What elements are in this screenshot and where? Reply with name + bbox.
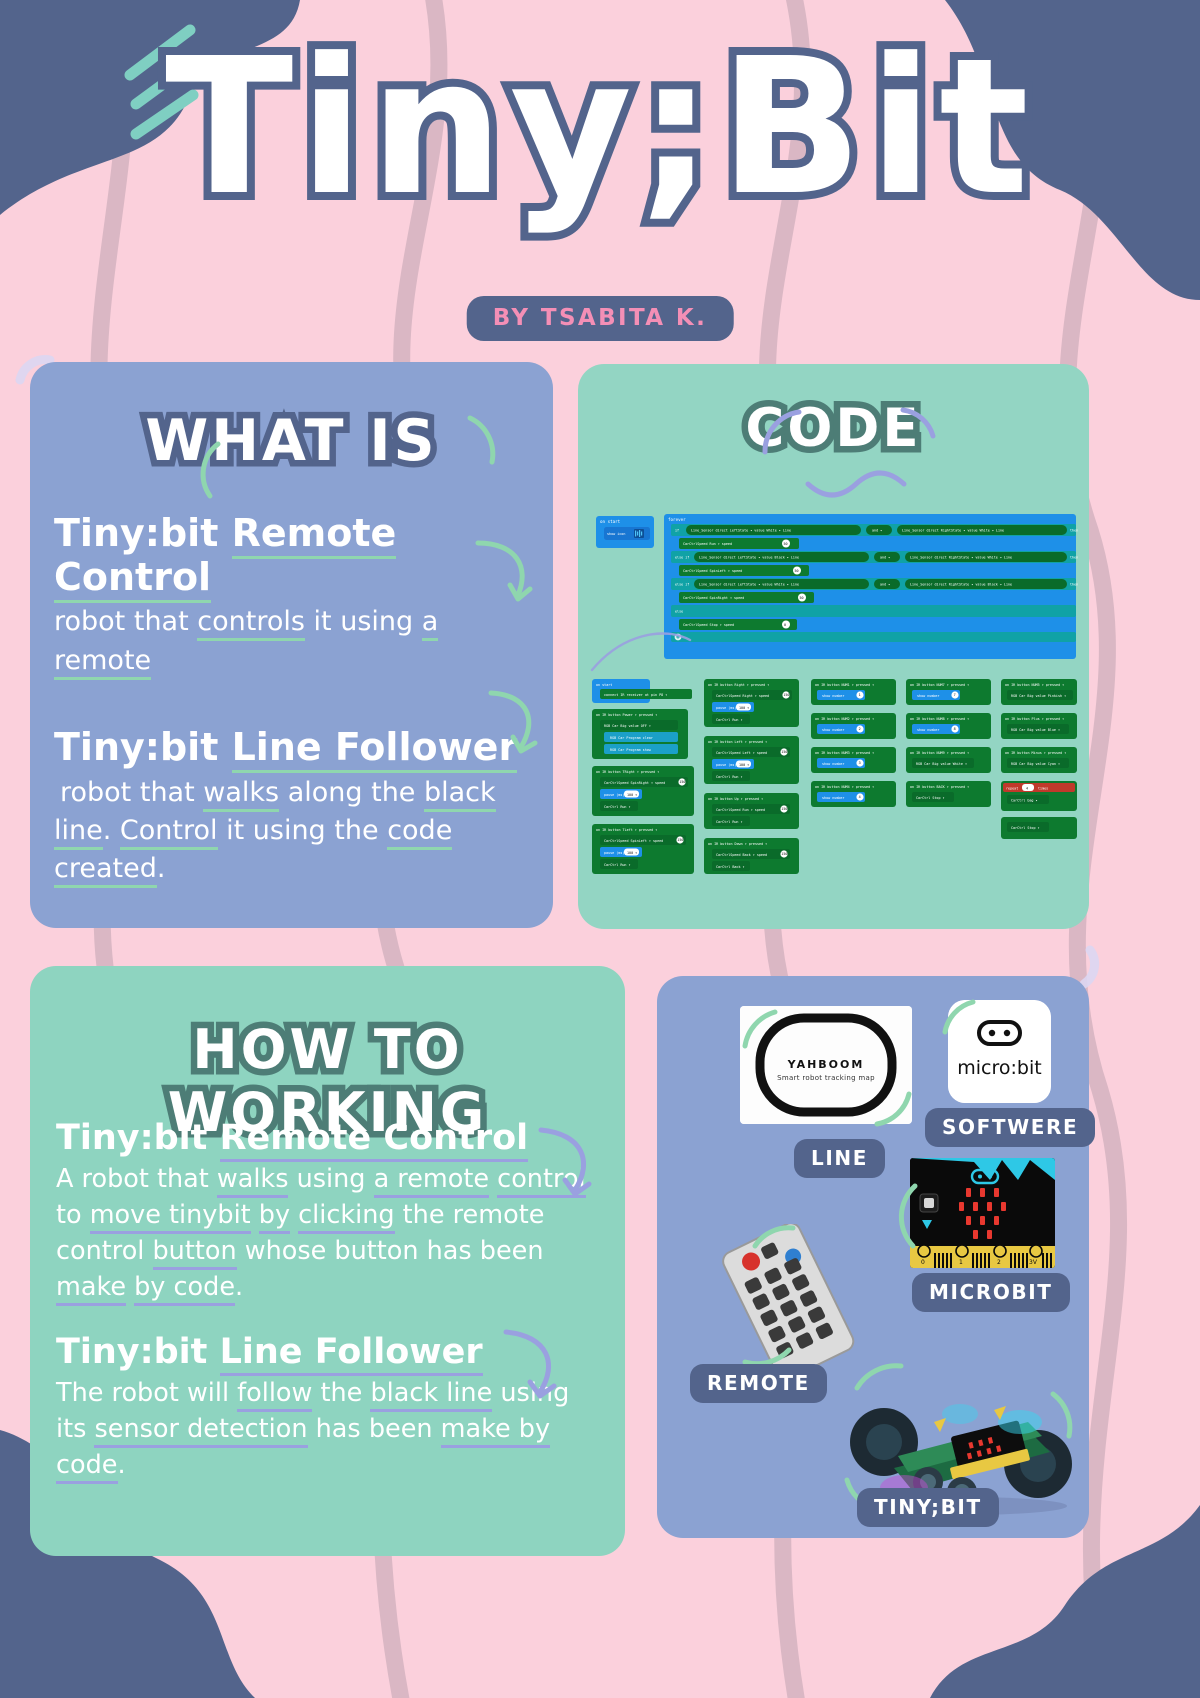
- svg-text:3V: 3V: [1029, 1259, 1038, 1266]
- svg-text:then: then: [1070, 582, 1078, 586]
- svg-text:CarCtrl Run ▾: CarCtrl Run ▾: [604, 863, 631, 867]
- svg-text:RGB Car Program clear: RGB Car Program clear: [610, 736, 653, 740]
- svg-text:CarCtrl Back ▾: CarCtrl Back ▾: [716, 865, 745, 869]
- svg-text:on IR button Up ▾ pressed ▾: on IR button Up ▾ pressed ▾: [708, 797, 763, 801]
- svg-text:show icon: show icon: [607, 532, 625, 536]
- svg-text:CarCtrlSpeed Run ▾ speed: CarCtrlSpeed Run ▾ speed: [683, 542, 732, 546]
- svg-text:150: 150: [677, 838, 683, 842]
- svg-text:Line_Sensor direct LeftState: Line_Sensor direct LeftState ▾ value Whi…: [699, 582, 799, 586]
- svg-text:CarCtrlSpeed SpinLeft ▾ spe: CarCtrlSpeed SpinLeft ▾ speed: [683, 569, 742, 573]
- what-is-item-1-title: Tiny:bit Line Follower: [54, 726, 534, 770]
- svg-text:1: 1: [959, 1259, 963, 1266]
- card-what-is: WHAT IS Tiny:bit Remote Control robot th…: [30, 362, 553, 928]
- svg-text:150: 150: [783, 693, 789, 697]
- how-item-1-title: Tiny:bit Line Follower: [56, 1332, 601, 1372]
- svg-text:times: times: [1038, 787, 1048, 791]
- svg-text:Line_Sensor direct RightState: Line_Sensor direct RightState ▾ value Wh…: [902, 528, 1004, 532]
- microbit-logo-text: micro:bit: [948, 1057, 1051, 1079]
- svg-text:RGB Car Big value White ▾: RGB Car Big value White ▾: [916, 762, 967, 766]
- svg-text:and ▾: and ▾: [872, 528, 882, 532]
- svg-text:on IR button BACK ▾ pressed: on IR button BACK ▾ pressed ▾: [910, 785, 969, 789]
- svg-text:on IR button NUM4 ▾ pressed: on IR button NUM4 ▾ pressed ▾: [815, 785, 874, 789]
- svg-text:150: 150: [781, 807, 787, 811]
- svg-text:CarCtrl Stop ▾: CarCtrl Stop ▾: [916, 796, 945, 800]
- what-is-item-0-title: Tiny:bit Remote Control: [54, 512, 534, 599]
- svg-text:CarCtrlSpeed SpinLeft ▾ spee: CarCtrlSpeed SpinLeft ▾ speed: [604, 839, 663, 843]
- svg-text:on start: on start: [600, 519, 621, 524]
- svg-text:show number: show number: [822, 728, 844, 732]
- how-item-1-body: The robot will follow the black line usi…: [56, 1376, 601, 1484]
- heading-what-is: WHAT IS: [30, 408, 553, 474]
- svg-text:Line_Sensor direct RightState: Line_Sensor direct RightState ▾ value Wh…: [910, 555, 1012, 559]
- svg-text:RGB Car Big value Cyan ▾: RGB Car Big value Cyan ▾: [1011, 762, 1060, 766]
- photo-remote-control: [709, 1224, 864, 1374]
- svg-text:Line_Sensor direct LeftState: Line_Sensor direct LeftState ▾ value Whi…: [691, 528, 791, 532]
- svg-text:on IR button Minus ▾ presse: on IR button Minus ▾ pressed ▾: [1005, 751, 1066, 755]
- poster-title-wrap: Tiny;Bit: [0, 34, 1200, 222]
- svg-text:RGB Car Big value OFF ▾: RGB Car Big value OFF ▾: [604, 724, 651, 728]
- svg-text:100 ▾: 100 ▾: [739, 706, 749, 710]
- svg-text:100 ▾: 100 ▾: [627, 851, 637, 855]
- svg-text:on IR button NUM7 ▾ pressed: on IR button NUM7 ▾ pressed ▾: [910, 683, 969, 687]
- byline-badge: BY TSABITA K.: [467, 296, 734, 341]
- svg-text:0: 0: [784, 623, 786, 627]
- svg-text:on IR button Right ▾ presse: on IR button Right ▾ pressed ▾: [708, 683, 769, 687]
- svg-text:pause (ms): pause (ms): [604, 793, 624, 797]
- card-code: CODE .blk{font-family:"DejaVu Sans Mono"…: [578, 364, 1089, 929]
- tag-microbit: MICROBIT: [912, 1273, 1070, 1312]
- svg-text:show number: show number: [917, 728, 939, 732]
- photo-microbit-logo: micro:bit: [948, 1000, 1051, 1103]
- svg-text:pause (ms): pause (ms): [604, 851, 624, 855]
- svg-text:4: 4: [859, 795, 861, 799]
- svg-text:if: if: [675, 528, 679, 532]
- svg-text:else: else: [675, 609, 683, 613]
- svg-text:50: 50: [784, 542, 788, 546]
- svg-text:else if: else if: [675, 555, 689, 559]
- svg-text:1: 1: [859, 693, 861, 697]
- card-tools: YAHBOOM Smart robot tracking map LINE mi…: [657, 976, 1089, 1538]
- svg-text:pause (ms): pause (ms): [716, 706, 736, 710]
- svg-text:on IR button NUM8 ▾ pressed: on IR button NUM8 ▾ pressed ▾: [910, 717, 969, 721]
- card-how-to-working: HOW TO WORKING Tiny:bit Remote Control A…: [30, 966, 625, 1556]
- svg-text:2: 2: [859, 727, 861, 731]
- svg-text:on IR button NUM3 ▾ pressed: on IR button NUM3 ▾ pressed ▾: [815, 751, 874, 755]
- svg-text:CarCtrlSpeed Left ▾ speed: CarCtrlSpeed Left ▾ speed: [716, 751, 767, 755]
- svg-text:on IR button NUM1 ▾ pressed: on IR button NUM1 ▾ pressed ▾: [815, 683, 874, 687]
- svg-text:on IR button TRight ▾ press: on IR button TRight ▾ pressed ▾: [596, 770, 659, 774]
- what-is-body: Tiny:bit Remote Control robot that contr…: [54, 512, 534, 923]
- tag-line: LINE: [794, 1139, 885, 1178]
- svg-text:Line_Sensor direct RightState: Line_Sensor direct RightState ▾ value Bl…: [910, 582, 1012, 586]
- svg-text:on IR button NUM9 ▾ pressed: on IR button NUM9 ▾ pressed ▾: [910, 751, 969, 755]
- svg-text:then: then: [1070, 555, 1078, 559]
- svg-text:on IR button Plus ▾ pressed: on IR button Plus ▾ pressed ▾: [1005, 717, 1064, 721]
- svg-text:and ▾: and ▾: [880, 582, 890, 586]
- svg-text:CarCtrlSpeed SpinRight ▾ spe: CarCtrlSpeed SpinRight ▾ speed: [604, 781, 665, 785]
- photo-tracking-map: YAHBOOM Smart robot tracking map: [740, 1006, 912, 1124]
- yahboom-logo-sub: Smart robot tracking map: [740, 1074, 912, 1082]
- svg-text:on IR button NUM5 ▾ pressed: on IR button NUM5 ▾ pressed ▾: [1005, 683, 1064, 687]
- yahboom-logo-text: YAHBOOM: [740, 1058, 912, 1071]
- svg-text:2: 2: [997, 1259, 1001, 1266]
- svg-text:else if: else if: [675, 582, 689, 586]
- svg-text:CarCtrl Run ▾: CarCtrl Run ▾: [716, 775, 743, 779]
- svg-text:CarCtrlSpeed Run ▾ speed: CarCtrlSpeed Run ▾ speed: [716, 808, 765, 812]
- svg-text:show number: show number: [822, 762, 844, 766]
- svg-text:forever: forever: [668, 517, 686, 522]
- svg-text:CarCtrlSpeed SpinRight ▾ sp: CarCtrlSpeed SpinRight ▾ speed: [683, 596, 744, 600]
- heading-code: CODE: [578, 398, 1089, 459]
- svg-text:CarCtrl bag ▾: CarCtrl bag ▾: [1011, 798, 1038, 802]
- svg-text:100 ▾: 100 ▾: [627, 793, 637, 797]
- svg-text:4: 4: [1026, 787, 1028, 791]
- svg-text:Line_Sensor direct LeftState: Line_Sensor direct LeftState ▾ value Bla…: [699, 555, 799, 559]
- svg-text:CarCtrlSpeed Right ▾ speed: CarCtrlSpeed Right ▾ speed: [716, 694, 769, 698]
- svg-text:show number: show number: [917, 694, 939, 698]
- svg-text:RGB Car Program show: RGB Car Program show: [610, 748, 652, 752]
- svg-text:150: 150: [781, 750, 787, 754]
- svg-text:50: 50: [795, 569, 799, 573]
- svg-text:CarCtrlSpeed Stop ▾ speed: CarCtrlSpeed Stop ▾ speed: [683, 623, 734, 627]
- svg-text:RGB Car Big value Blue ▾: RGB Car Big value Blue ▾: [1011, 728, 1060, 732]
- svg-text:repeat: repeat: [1006, 787, 1018, 791]
- page-title: Tiny;Bit: [165, 34, 1035, 222]
- how-item-0-body: A robot that walks using a remote contro…: [56, 1162, 601, 1306]
- what-is-item-1-body: robot that walks along the black line. C…: [54, 774, 534, 889]
- svg-text:on IR button NUM2 ▾ pressed: on IR button NUM2 ▾ pressed ▾: [815, 717, 874, 721]
- svg-text:CarCtrlSpeed Back ▾ speed: CarCtrlSpeed Back ▾ speed: [716, 853, 767, 857]
- svg-text:100 ▾: 100 ▾: [739, 763, 749, 767]
- how-item-0-title: Tiny:bit Remote Control: [56, 1118, 601, 1158]
- svg-text:on start: on start: [596, 683, 612, 687]
- tag-remote: REMOTE: [690, 1364, 827, 1403]
- tag-softwere: SOFTWERE: [925, 1108, 1095, 1147]
- photo-microbit-board: 0123V: [910, 1158, 1055, 1268]
- svg-text:show number: show number: [822, 796, 844, 800]
- svg-text:and ▾: and ▾: [880, 555, 890, 559]
- svg-text:150: 150: [679, 780, 685, 784]
- svg-text:on IR button TLeft ▾ presse: on IR button TLeft ▾ pressed ▾: [596, 828, 657, 832]
- poster-canvas: Tiny;Bit BY TSABITA K. WHAT IS Tiny:bit …: [0, 0, 1200, 1698]
- svg-text:7: 7: [954, 693, 956, 697]
- how-to-working-body: Tiny:bit Remote Control A robot that wal…: [56, 1118, 601, 1502]
- svg-text:show number: show number: [822, 694, 844, 698]
- svg-text:CarCtrl Run ▾: CarCtrl Run ▾: [716, 820, 743, 824]
- svg-text:on IR button Down ▾ pressed: on IR button Down ▾ pressed ▾: [708, 842, 767, 846]
- svg-text:RGB Car Big value Pinkish ▾: RGB Car Big value Pinkish ▾: [1011, 694, 1066, 698]
- tag-tinybit: TINY;BIT: [857, 1488, 999, 1527]
- svg-text:CarCtrl Run ▾: CarCtrl Run ▾: [604, 805, 631, 809]
- svg-text:0: 0: [921, 1259, 925, 1266]
- code-blocks-screenshot: .blk{font-family:"DejaVu Sans Mono", mon…: [586, 504, 1081, 914]
- what-is-item-0-body: robot that controls it using a remote: [54, 603, 534, 680]
- svg-text:8: 8: [954, 727, 956, 731]
- svg-text:CarCtrl Stop ▾: CarCtrl Stop ▾: [1011, 826, 1040, 830]
- svg-text:50: 50: [800, 596, 804, 600]
- svg-text:then: then: [1070, 528, 1078, 532]
- svg-text:on IR button Left ▾ pressed: on IR button Left ▾ pressed ▾: [708, 740, 767, 744]
- svg-text:150: 150: [781, 852, 787, 856]
- svg-text:pause (ms): pause (ms): [716, 763, 736, 767]
- svg-text:3: 3: [859, 761, 861, 765]
- svg-text:CarCtrl Run ▾: CarCtrl Run ▾: [716, 718, 743, 722]
- svg-text:connect IR receiver at pin P8: connect IR receiver at pin P8 ▾: [604, 693, 667, 697]
- svg-text:on IR button Power ▾ presse: on IR button Power ▾ pressed ▾: [596, 713, 657, 717]
